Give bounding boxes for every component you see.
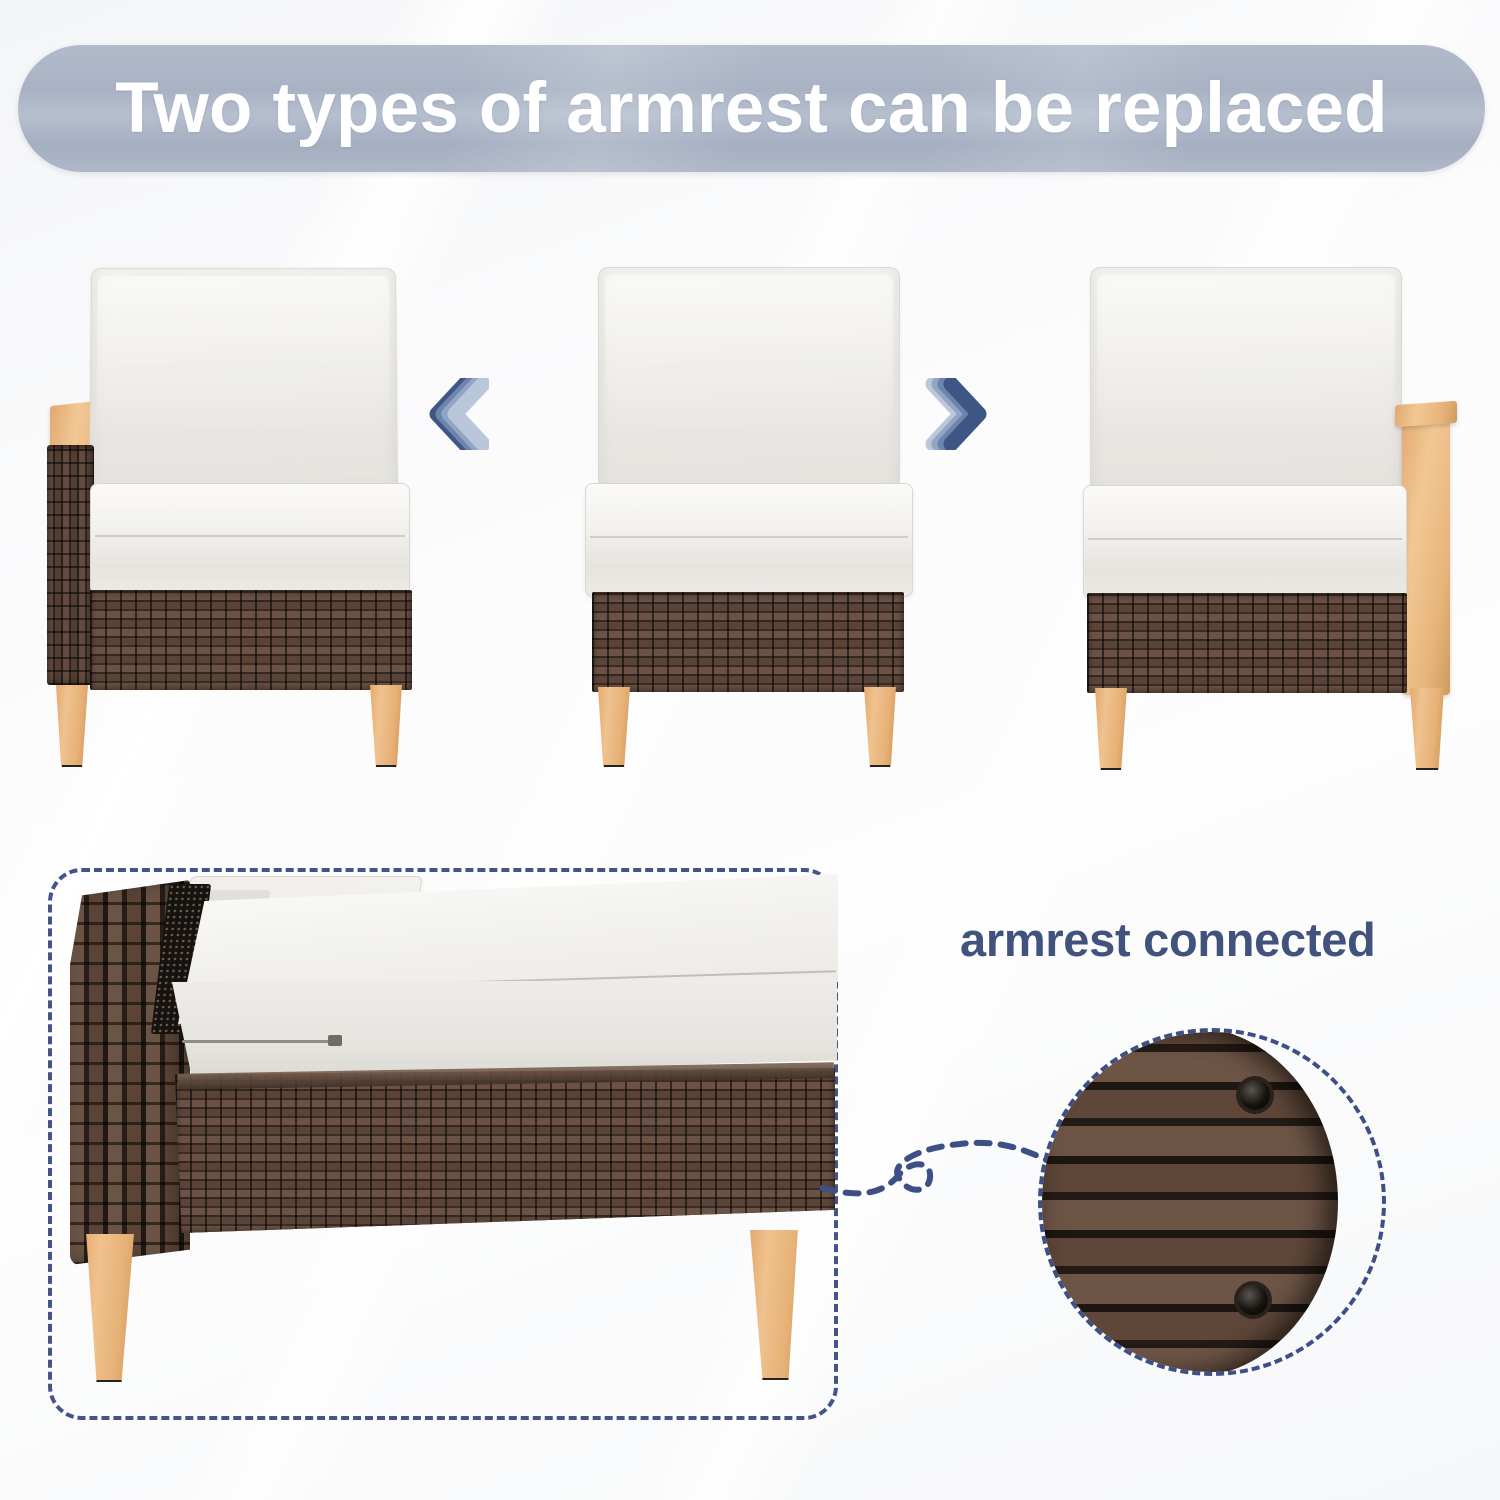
module-front-right-leg xyxy=(750,1230,802,1380)
module-base-wicker xyxy=(175,1068,835,1233)
right-chair-base-wicker xyxy=(1087,593,1407,693)
module-cushion-zipper-pull xyxy=(328,1035,342,1046)
header-banner: Two types of armrest can be replaced xyxy=(18,45,1485,172)
left-chair-front-right-leg xyxy=(370,685,402,767)
left-chair-seat-cushion xyxy=(90,483,410,595)
armless-chair-front-left-leg xyxy=(598,687,630,767)
right-armrest-chair xyxy=(1065,255,1485,785)
right-chair-seat-cushion xyxy=(1083,485,1407,599)
armrest-connected-module xyxy=(60,868,840,1428)
right-chair-front-left-leg xyxy=(1095,688,1127,770)
left-chair-base-wicker xyxy=(90,590,412,690)
armless-chair xyxy=(560,255,960,785)
infographic-canvas: Two types of armrest can be replaced xyxy=(0,0,1500,1500)
armrest-connected-label: armrest connected xyxy=(960,912,1375,967)
right-chair-back-cushion xyxy=(1090,267,1402,501)
right-armrest-wood-panel xyxy=(1402,405,1450,695)
module-front-left-leg xyxy=(82,1234,134,1382)
armless-chair-base-wicker xyxy=(592,592,904,692)
banner-title: Two types of armrest can be replaced xyxy=(115,73,1387,144)
module-cushion-zipper xyxy=(182,1040,332,1043)
wicker-armrest-detail-circle xyxy=(1038,1028,1386,1376)
left-chair-back-cushion xyxy=(89,268,398,500)
right-chair-front-right-leg xyxy=(1410,688,1444,770)
left-chair-armrest-wicker-panel xyxy=(47,445,94,685)
left-armrest-chair xyxy=(20,255,440,785)
armless-chair-front-right-leg xyxy=(864,687,896,767)
right-armrest-top-rail xyxy=(1395,401,1457,427)
armless-chair-seat-cushion xyxy=(585,483,913,597)
armless-chair-back-cushion xyxy=(598,267,900,499)
left-chair-front-left-leg xyxy=(56,685,88,767)
